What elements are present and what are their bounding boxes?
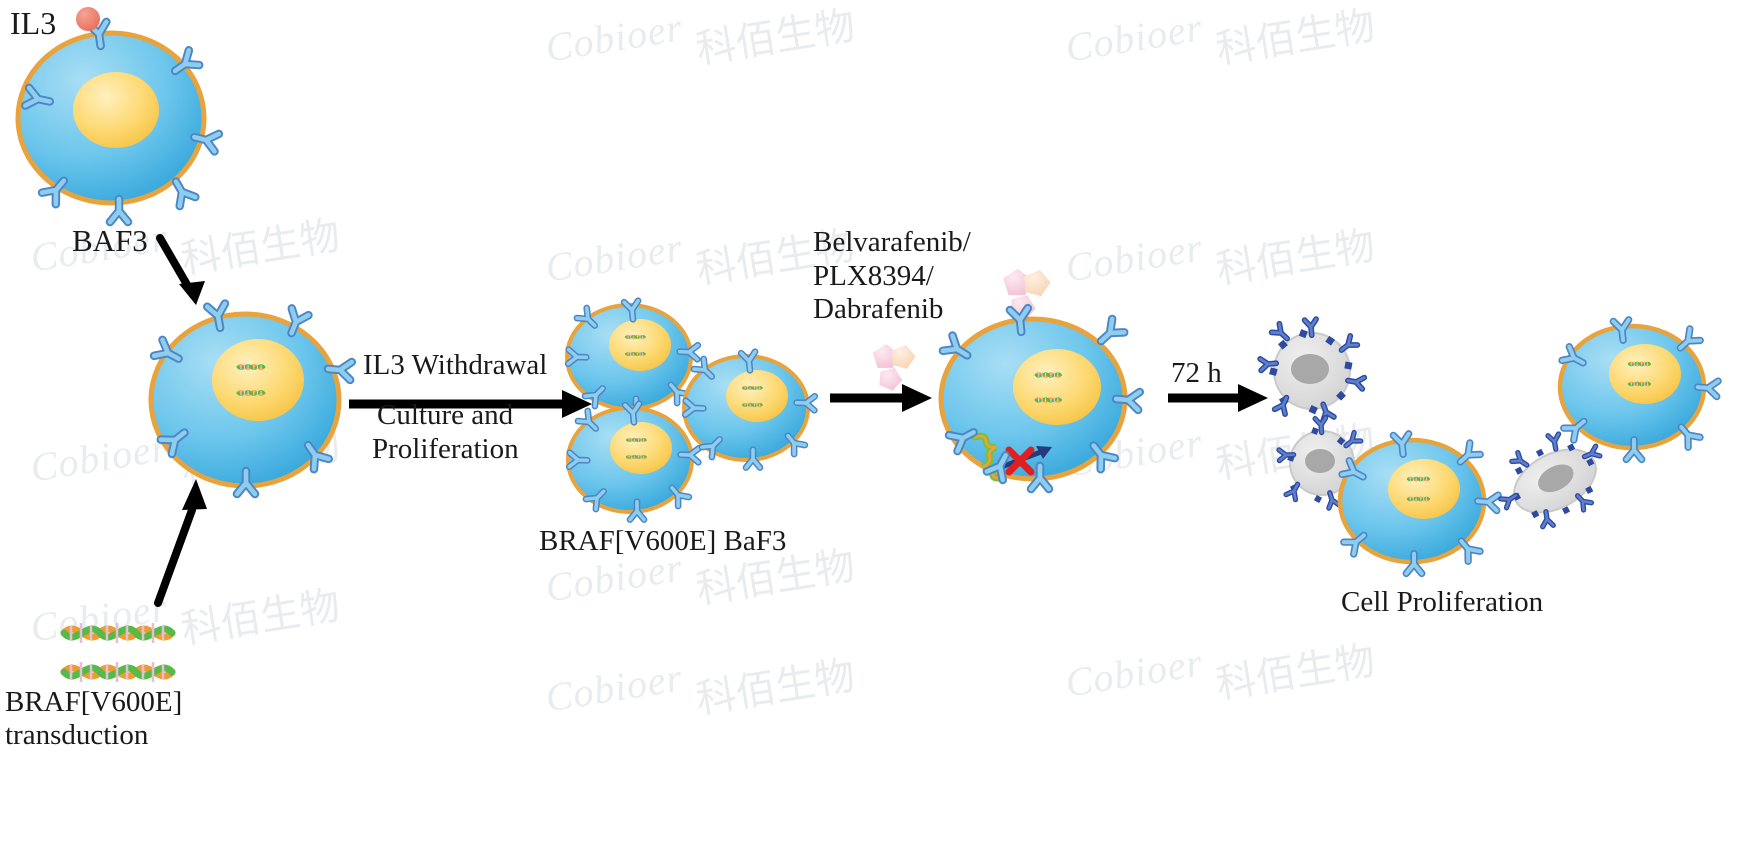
- braf-v600e-dna-construct: [64, 623, 172, 682]
- il3-ligand-icon: [76, 7, 100, 31]
- label-baf3: BAF3: [72, 221, 148, 261]
- cell-baf3-parental: [18, 22, 219, 222]
- cell-drug-treated: [941, 308, 1140, 489]
- label-72h: 72 h: [1171, 355, 1222, 392]
- arrow-dna-to-transduced: [158, 479, 207, 603]
- cell-cluster-braf-baf3: [567, 301, 815, 520]
- live-cell-2: [1340, 434, 1498, 574]
- braf-baf3-cell-3: [684, 352, 815, 468]
- outcome-cell-group: [1260, 319, 1718, 573]
- label-transduction-line1: BRAF[V600E]: [5, 684, 182, 721]
- label-culture-line2: Proliferation: [372, 431, 519, 468]
- cell-transduced: [151, 304, 352, 494]
- arrow-drug-treatment: [830, 384, 932, 412]
- label-il3-withdrawal: IL3 Withdrawal: [363, 347, 547, 384]
- braf-baf3-cell-1: [567, 301, 698, 417]
- label-transduction-line2: transduction: [5, 717, 148, 754]
- braf-baf3-cell-2: [568, 404, 699, 520]
- dead-cell-1: [1260, 319, 1364, 421]
- label-il3: IL3: [10, 3, 56, 44]
- label-drug-line3: Dabrafenib: [813, 291, 943, 328]
- label-culture-line1: Culture and: [377, 397, 513, 434]
- arrow-baf3-to-transduced: [160, 238, 205, 305]
- live-cell-1: [1560, 320, 1718, 460]
- figure-canvas: Cobioer科佰生物Cobioer科佰生物Cobioer科佰生物Cobioer…: [0, 0, 1763, 848]
- label-braf-baf3: BRAF[V600E] BaF3: [539, 523, 786, 560]
- diagram-artwork: [0, 0, 1763, 848]
- label-drug-line1: Belvarafenib/: [813, 224, 971, 261]
- label-cell-proliferation: Cell Proliferation: [1341, 584, 1543, 621]
- label-drug-line2: PLX8394/: [813, 258, 934, 295]
